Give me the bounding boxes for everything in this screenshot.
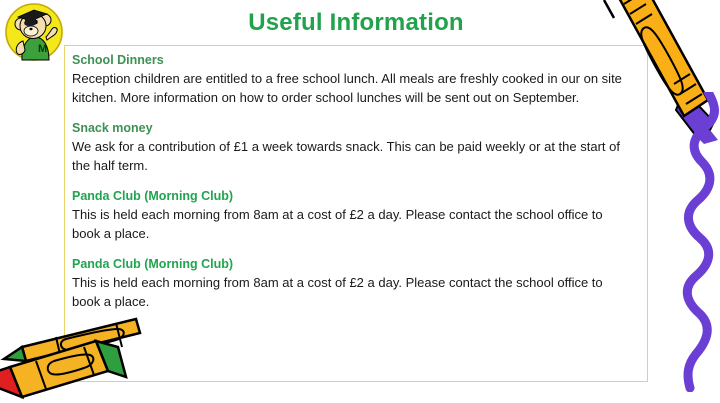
section-snack-money: Snack money We ask for a contribution of… (72, 120, 642, 175)
section-heading: School Dinners (72, 52, 642, 68)
section-body: This is held each morning from 8am at a … (72, 205, 634, 243)
squiggle-stroke (687, 92, 714, 388)
purple-squiggle-line-icon (658, 92, 720, 392)
crayon-tip-point (696, 130, 718, 144)
section-body: We ask for a contribution of £1 a week t… (72, 137, 634, 175)
section-school-dinners: School Dinners Reception children are en… (72, 52, 642, 107)
section-heading: Panda Club (Morning Club) (72, 256, 642, 272)
section-panda-club-1: Panda Club (Morning Club) This is held e… (72, 188, 642, 243)
section-panda-club-2: Panda Club (Morning Club) This is held e… (72, 256, 642, 311)
section-body: This is held each morning from 8am at a … (72, 273, 634, 311)
crayon-band (686, 94, 702, 104)
slide-canvas: M Useful Information School Dinners Rece… (0, 0, 720, 403)
mascot-cap-crown (25, 18, 36, 26)
crayon-band (674, 74, 690, 84)
school-bear-mascot-logo: M (4, 2, 64, 62)
mascot-shirt-letter: M (38, 43, 47, 55)
crayon-band (36, 361, 46, 389)
section-heading: Snack money (72, 120, 642, 136)
crayon-band (56, 337, 62, 363)
mascot-nose (29, 28, 32, 30)
sections-list: School Dinners Reception children are en… (72, 52, 642, 311)
crayon-tip-purple (676, 90, 714, 136)
section-body: Reception children are entitled to a fre… (72, 69, 634, 107)
crayon-band (680, 84, 696, 94)
crayon-band (624, 0, 640, 4)
crayon-front-tip-red (0, 367, 22, 397)
crayon-back-tip-green (4, 347, 26, 361)
page-title: Useful Information (64, 8, 648, 38)
mascot-muzzle (24, 26, 38, 36)
section-heading: Panda Club (Morning Club) (72, 188, 642, 204)
